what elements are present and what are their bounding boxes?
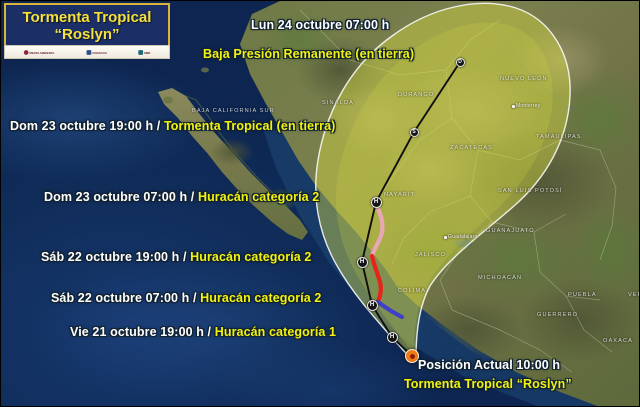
label-time: Vie 21 octubre 19:00 h: [70, 325, 204, 339]
label-sab-22-07: Sáb 22 octubre 07:00 h / Huracán categor…: [51, 291, 322, 305]
city-dot: [512, 105, 515, 108]
logo-label: SMN: [144, 50, 150, 54]
label-dom-23-07: Dom 23 octubre 07:00 h / Huracán categor…: [44, 190, 319, 204]
label-separator: /: [153, 119, 164, 133]
semarnat-icon: [24, 50, 29, 55]
label-separator: /: [179, 250, 190, 264]
agency-logo-strip: MEDIO AMBIENTE CONAGUA SMN: [4, 45, 170, 59]
label-time: Sáb 22 octubre 07:00 h: [51, 291, 189, 305]
label-category: Huracán categoría 1: [215, 325, 336, 339]
conagua-icon: [87, 50, 92, 55]
label-current-position-name: Tormenta Tropical “Roslyn”: [404, 377, 572, 391]
title-line-2: “Roslyn”: [10, 26, 164, 43]
smn-icon: [138, 50, 143, 55]
label-time: Dom 23 octubre 19:00 h: [10, 119, 153, 133]
logo-conagua: CONAGUA: [87, 50, 107, 55]
label-category: Huracán categoría 2: [198, 190, 319, 204]
hurricane-track-map: BAJA CALIFORNIA SURSINALOADURANGOZACATEC…: [0, 0, 640, 407]
label-category: Tormenta Tropical (en tierra): [164, 119, 335, 133]
label-time: Dom 23 octubre 07:00 h: [44, 190, 187, 204]
title-line-1: Tormenta Tropical: [10, 9, 164, 26]
logo-semarnat: MEDIO AMBIENTE: [24, 50, 55, 55]
node-sab22-07: H: [367, 300, 378, 311]
node-dom23-07: H: [371, 197, 382, 208]
label-sab-22-19: Sáb 22 octubre 19:00 h / Huracán categor…: [41, 250, 312, 264]
label-storm-name: Tormenta Tropical “Roslyn”: [404, 377, 572, 391]
label-separator: /: [187, 190, 198, 204]
title-banner: Tormenta Tropical “Roslyn”: [4, 3, 170, 47]
label-category: Huracán categoría 2: [190, 250, 311, 264]
node-sab22-19: H: [357, 257, 368, 268]
logo-smn: SMN: [138, 50, 150, 55]
label-time: Sáb 22 octubre 19:00 h: [41, 250, 179, 264]
label-category: Baja Presión Remanente (en tierra): [203, 47, 414, 61]
label-time: Lun 24 octubre 07:00 h: [251, 18, 389, 32]
current-position-marker: [405, 349, 419, 363]
node-lun24: D: [456, 58, 465, 67]
city-dot: [444, 236, 447, 239]
label-category: Huracán categoría 2: [200, 291, 321, 305]
logo-label: MEDIO AMBIENTE: [30, 50, 55, 54]
label-separator: /: [189, 291, 200, 305]
label-dom-23-19: Dom 23 octubre 19:00 h / Tormenta Tropic…: [10, 119, 335, 133]
label-lun-24-time: Lun 24 octubre 07:00 h: [251, 18, 389, 32]
label-current-position-time: Posición Actual 10:00 h: [418, 358, 560, 372]
logo-label: CONAGUA: [92, 50, 107, 54]
label-separator: /: [204, 325, 215, 339]
node-vie21-19: H: [387, 332, 398, 343]
label-lun-24-category: Baja Presión Remanente (en tierra): [203, 47, 414, 61]
label-time: Posición Actual 10:00 h: [418, 358, 560, 372]
node-dom23-19: S: [410, 128, 419, 137]
label-vie-21-19: Vie 21 octubre 19:00 h / Huracán categor…: [70, 325, 336, 339]
